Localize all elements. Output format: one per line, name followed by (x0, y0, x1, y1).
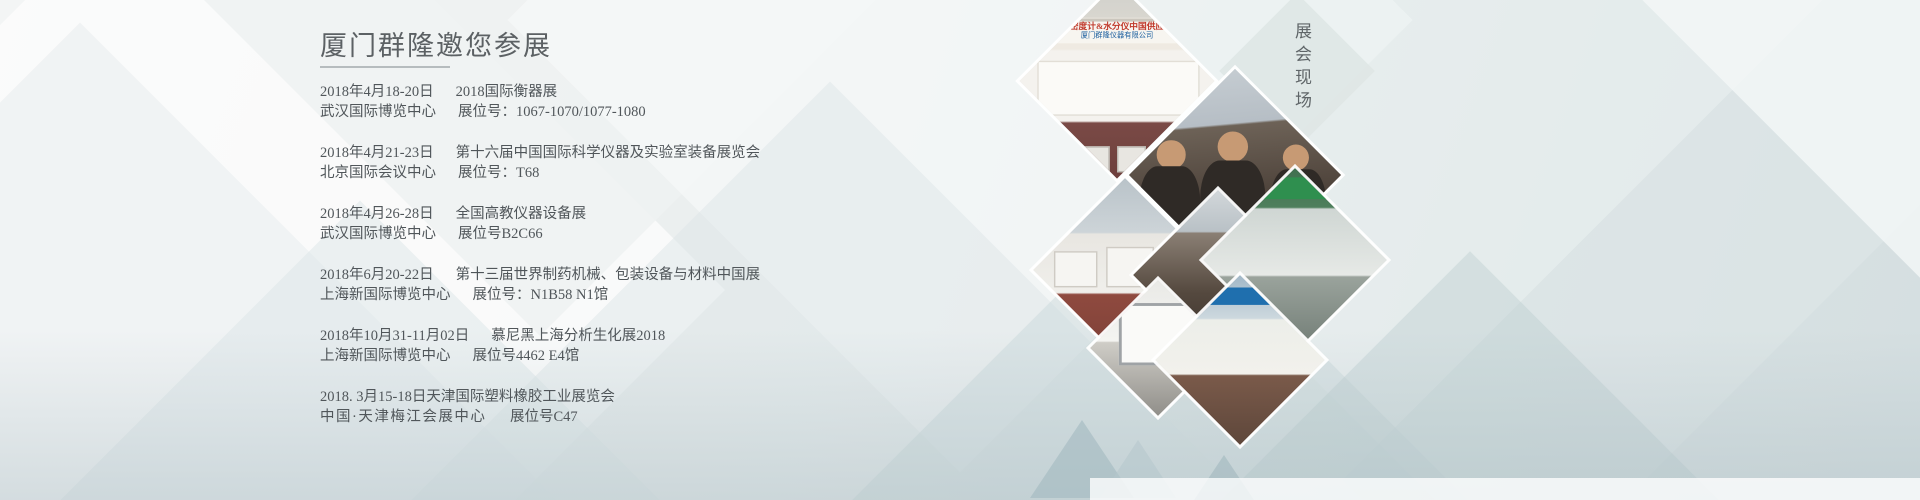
event-name: 第十三届世界制药机械、包装设备与材料中国展 (456, 265, 761, 285)
event-line-1: 2018. 3月15-18日天津国际塑料橡胶工业展览会 (320, 387, 880, 407)
event-date: 2018年4月21-23日 (320, 143, 434, 163)
event-line-2: 中国·天津梅江会展中心 展位号C47 (320, 407, 880, 427)
event-line-1: 2018年6月20-22日 第十三届世界制药机械、包装设备与材料中国展 (320, 265, 880, 285)
event-venue: 中国·天津梅江会展中心 (320, 407, 510, 427)
banner-stage: 厦门群隆邀您参展 2018年4月18-20日 2018国际衡器展 武汉国际博览中… (0, 0, 1920, 500)
vertical-label: 展会现场 (1288, 22, 1314, 114)
booth-device (1045, 146, 1074, 173)
event-booth: 展位号：N1B58 N1馆 (473, 285, 609, 305)
page-title: 厦门群隆邀您参展 (320, 24, 552, 63)
event-headline: 2018. 3月15-18日天津国际塑料橡胶工业展览会 (320, 389, 615, 405)
text-content: 厦门群隆邀您参展 2018年4月18-20日 2018国际衡器展 武汉国际博览中… (0, 0, 900, 500)
event-list: 2018年4月18-20日 2018国际衡器展 武汉国际博览中心 展位号：106… (320, 82, 880, 448)
event-item: 2018年4月26-28日 全国高教仪器设备展 武汉国际博览中心 展位号B2C6… (320, 204, 880, 244)
event-name: 2018国际衡器展 (456, 82, 558, 102)
event-line-2: 北京国际会议中心 展位号：T68 (320, 163, 880, 183)
event-name: 全国高教仪器设备展 (456, 204, 587, 224)
booth-banner: 广密度计&水分仪中国供应商 厦门群隆仪器有限公司 (1033, 19, 1201, 44)
event-line-2: 武汉国际博览中心 展位号：1067-1070/1077-1080 (320, 102, 880, 122)
event-date: 2018年6月20-22日 (320, 265, 434, 285)
event-venue: 北京国际会议中心 (320, 163, 436, 183)
person-head (1283, 145, 1309, 171)
booth-banner-blue-text: 厦门群隆仪器有限公司 (1033, 33, 1201, 42)
event-line-1: 2018年10月31-11月02日 慕尼黑上海分析生化展2018 (320, 326, 880, 346)
event-line-1: 2018年4月18-20日 2018国际衡器展 (320, 82, 880, 102)
event-name: 第十六届中国国际科学仪器及实验室装备展览会 (456, 143, 761, 163)
photo-collage: 展会现场 广密度计&水分仪中国供应商 厦门群隆仪器有限公司 (1030, 0, 1390, 500)
event-booth: 展位号：1067-1070/1077-1080 (458, 102, 646, 122)
booth-banner-red-text: 广密度计&水分仪中国供应商 (1033, 22, 1201, 34)
event-booth: 展位号4462 E4馆 (473, 346, 580, 366)
booth-product-wall (1037, 61, 1200, 116)
event-venue: 武汉国际博览中心 (320, 102, 436, 122)
event-booth: 展位号：T68 (458, 163, 539, 183)
event-line-2: 上海新国际博览中心 展位号：N1B58 N1馆 (320, 285, 880, 305)
event-item: 2018年10月31-11月02日 慕尼黑上海分析生化展2018 上海新国际博览… (320, 326, 880, 366)
event-date: 2018年4月18-20日 (320, 82, 434, 102)
event-item: 2018年6月20-22日 第十三届世界制药机械、包装设备与材料中国展 上海新国… (320, 265, 880, 305)
title-underline (320, 66, 450, 68)
event-line-2: 武汉国际博览中心 展位号B2C66 (320, 224, 880, 244)
booth-device (1081, 146, 1110, 173)
event-line-1: 2018年4月21-23日 第十六届中国国际科学仪器及实验室装备展览会 (320, 143, 880, 163)
event-item: 2018年4月21-23日 第十六届中国国际科学仪器及实验室装备展览会 北京国际… (320, 143, 880, 183)
event-venue: 上海新国际博览中心 (320, 285, 451, 305)
event-name: 慕尼黑上海分析生化展2018 (491, 326, 665, 346)
event-venue: 上海新国际博览中心 (320, 346, 451, 366)
event-item: 2018年4月18-20日 2018国际衡器展 武汉国际博览中心 展位号：106… (320, 82, 880, 122)
event-booth: 展位号B2C66 (458, 224, 543, 244)
instrument (1053, 251, 1097, 288)
event-line-2: 上海新国际博览中心 展位号4462 E4馆 (320, 346, 880, 366)
person-head (1218, 132, 1248, 162)
event-booth: 展位号C47 (510, 407, 578, 427)
person-head (1157, 140, 1185, 168)
event-date: 2018年10月31-11月02日 (320, 326, 469, 346)
event-item: 2018. 3月15-18日天津国际塑料橡胶工业展览会 中国·天津梅江会展中心 … (320, 387, 880, 427)
event-line-1: 2018年4月26-28日 全国高教仪器设备展 (320, 204, 880, 224)
event-venue: 武汉国际博览中心 (320, 224, 436, 244)
event-date: 2018年4月26-28日 (320, 204, 434, 224)
